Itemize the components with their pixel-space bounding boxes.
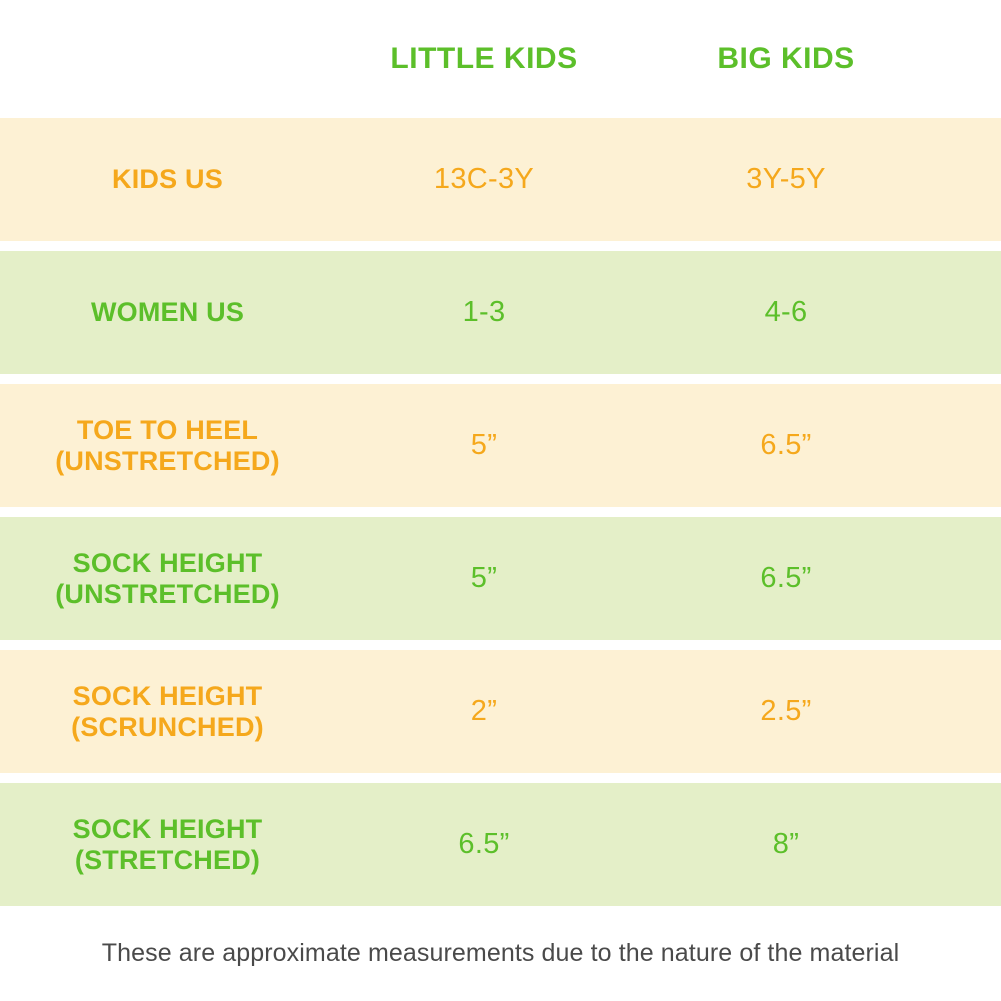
row-value-little-kids-cell: 1-3 xyxy=(335,296,633,329)
row-label-line2: (SCRUNCHED) xyxy=(0,712,335,743)
row-value-little-kids: 6.5” xyxy=(458,828,509,860)
row-value-big-kids-cell: 6.5” xyxy=(633,562,1001,595)
row-label-cell: KIDS US xyxy=(0,164,335,195)
footer-note: These are approximate measurements due t… xyxy=(102,939,900,968)
footer: These are approximate measurements due t… xyxy=(0,906,1001,1001)
row-value-big-kids-cell: 6.5” xyxy=(633,429,1001,462)
row-label-cell: SOCK HEIGHT (UNSTRETCHED) xyxy=(0,548,335,609)
row-label-line2: (STRETCHED) xyxy=(0,845,335,876)
table-row: KIDS US 13C-3Y 3Y-5Y xyxy=(0,118,1001,241)
row-value-big-kids-cell: 4-6 xyxy=(633,296,1001,329)
row-value-little-kids: 13C-3Y xyxy=(434,163,534,195)
row-value-big-kids-cell: 2.5” xyxy=(633,695,1001,728)
row-value-big-kids: 3Y-5Y xyxy=(746,163,825,195)
table-header-row: LITTLE KIDS BIG KIDS xyxy=(0,0,1001,118)
row-label: SOCK HEIGHT (SCRUNCHED) xyxy=(0,681,335,742)
row-label-line1: WOMEN US xyxy=(91,297,244,327)
table-row: SOCK HEIGHT (SCRUNCHED) 2” 2.5” xyxy=(0,650,1001,773)
row-label-cell: TOE TO HEEL (UNSTRETCHED) xyxy=(0,415,335,476)
row-value-little-kids: 1-3 xyxy=(463,296,506,328)
row-value-big-kids: 6.5” xyxy=(760,562,811,594)
row-label-line1: SOCK HEIGHT xyxy=(73,814,263,844)
row-value-little-kids-cell: 5” xyxy=(335,562,633,595)
row-value-little-kids-cell: 6.5” xyxy=(335,828,633,861)
row-value-little-kids: 2” xyxy=(471,695,497,727)
row-value-big-kids: 2.5” xyxy=(760,695,811,727)
row-value-big-kids-cell: 3Y-5Y xyxy=(633,163,1001,196)
row-label-line1: TOE TO HEEL xyxy=(77,415,258,445)
row-label: TOE TO HEEL (UNSTRETCHED) xyxy=(0,415,335,476)
row-label-cell: SOCK HEIGHT (STRETCHED) xyxy=(0,814,335,875)
row-value-big-kids: 6.5” xyxy=(760,429,811,461)
row-value-little-kids: 5” xyxy=(471,562,497,594)
header-big-kids-label: BIG KIDS xyxy=(717,42,854,75)
row-value-little-kids-cell: 2” xyxy=(335,695,633,728)
table-row: WOMEN US 1-3 4-6 xyxy=(0,251,1001,374)
header-column-big-kids: BIG KIDS xyxy=(633,42,1001,76)
row-label: SOCK HEIGHT (STRETCHED) xyxy=(0,814,335,875)
row-value-little-kids: 5” xyxy=(471,429,497,461)
row-value-little-kids-cell: 5” xyxy=(335,429,633,462)
row-label: KIDS US xyxy=(112,164,223,194)
row-label-cell: WOMEN US xyxy=(0,297,335,328)
table-row: SOCK HEIGHT (UNSTRETCHED) 5” 6.5” xyxy=(0,517,1001,640)
header-little-kids-label: LITTLE KIDS xyxy=(390,42,577,75)
table-body: KIDS US 13C-3Y 3Y-5Y WOMEN US 1-3 4-6 xyxy=(0,118,1001,906)
header-column-little-kids: LITTLE KIDS xyxy=(335,42,633,76)
row-label-line2: (UNSTRETCHED) xyxy=(0,446,335,477)
row-label-cell: SOCK HEIGHT (SCRUNCHED) xyxy=(0,681,335,742)
row-value-little-kids-cell: 13C-3Y xyxy=(335,163,633,196)
row-value-big-kids: 4-6 xyxy=(765,296,808,328)
row-label: WOMEN US xyxy=(91,297,244,327)
row-label-line1: SOCK HEIGHT xyxy=(73,548,263,578)
row-value-big-kids: 8” xyxy=(773,828,799,860)
row-label-line1: KIDS US xyxy=(112,164,223,194)
row-label-line2: (UNSTRETCHED) xyxy=(0,579,335,610)
row-label-line1: SOCK HEIGHT xyxy=(73,681,263,711)
row-label: SOCK HEIGHT (UNSTRETCHED) xyxy=(0,548,335,609)
table-row: TOE TO HEEL (UNSTRETCHED) 5” 6.5” xyxy=(0,384,1001,507)
row-value-big-kids-cell: 8” xyxy=(633,828,1001,861)
size-chart: LITTLE KIDS BIG KIDS KIDS US 13C-3Y 3Y-5… xyxy=(0,0,1001,1001)
table-row: SOCK HEIGHT (STRETCHED) 6.5” 8” xyxy=(0,783,1001,906)
